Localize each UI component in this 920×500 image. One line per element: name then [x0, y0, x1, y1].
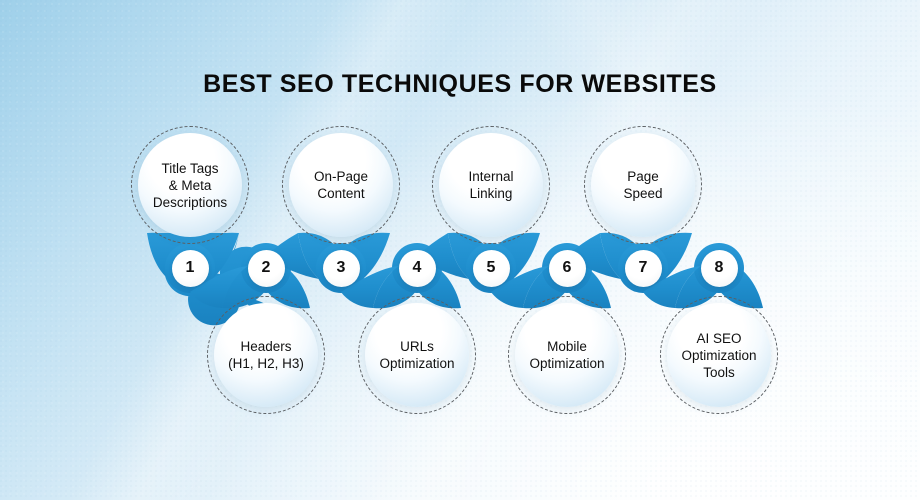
step-number-3[interactable]: 3: [323, 250, 360, 287]
step-bubble-6[interactable]: Mobile Optimization: [515, 303, 619, 407]
step-number-8[interactable]: 8: [701, 250, 738, 287]
step-bubble-3[interactable]: On-Page Content: [289, 133, 393, 237]
step-bubble-8[interactable]: AI SEO Optimization Tools: [667, 303, 771, 407]
step-label-6: Mobile Optimization: [525, 338, 608, 372]
step-number-1[interactable]: 1: [172, 250, 209, 287]
step-bubble-5[interactable]: Internal Linking: [439, 133, 543, 237]
step-number-3-value: 3: [337, 260, 346, 276]
step-number-7[interactable]: 7: [625, 250, 662, 287]
step-number-2[interactable]: 2: [248, 250, 285, 287]
connector-ribbons: [0, 0, 920, 500]
step-number-4[interactable]: 4: [399, 250, 436, 287]
step-number-4-value: 4: [413, 260, 422, 276]
step-label-7: Page Speed: [619, 168, 666, 202]
step-bubble-4[interactable]: URLs Optimization: [365, 303, 469, 407]
step-label-3: On-Page Content: [310, 168, 372, 202]
step-bubble-2[interactable]: Headers (H1, H2, H3): [214, 303, 318, 407]
step-label-1: Title Tags & Meta Descriptions: [149, 160, 231, 211]
step-number-1-value: 1: [186, 260, 195, 276]
step-number-5-value: 5: [487, 260, 496, 276]
step-label-8: AI SEO Optimization Tools: [677, 330, 760, 381]
step-bubble-7[interactable]: Page Speed: [591, 133, 695, 237]
step-number-5[interactable]: 5: [473, 250, 510, 287]
step-number-7-value: 7: [639, 260, 648, 276]
step-bubble-1[interactable]: Title Tags & Meta Descriptions: [138, 133, 242, 237]
step-number-8-value: 8: [715, 260, 724, 276]
step-label-5: Internal Linking: [464, 168, 517, 202]
step-number-6-value: 6: [563, 260, 572, 276]
step-number-2-value: 2: [262, 260, 271, 276]
step-number-6[interactable]: 6: [549, 250, 586, 287]
step-label-4: URLs Optimization: [375, 338, 458, 372]
step-label-2: Headers (H1, H2, H3): [224, 338, 308, 372]
infographic-canvas: BEST SEO TECHNIQUES FOR WEBSITES: [0, 0, 920, 500]
